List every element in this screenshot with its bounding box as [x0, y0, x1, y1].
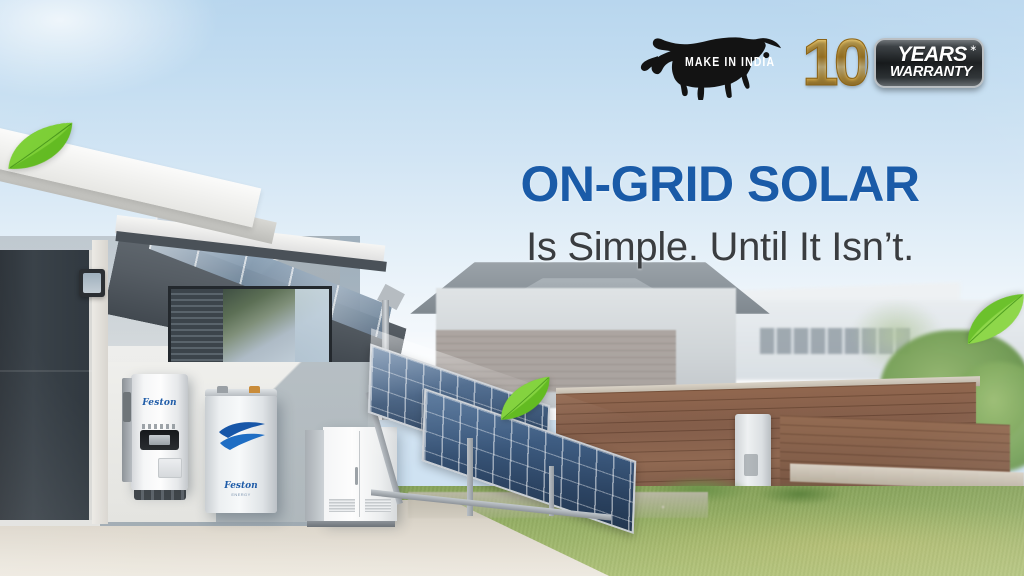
window-glass	[223, 289, 329, 363]
on-grid-solar-banner: Feston Feston ENERGY	[0, 0, 1024, 576]
inverter-side-bracket	[122, 378, 132, 482]
window-louvre	[171, 289, 223, 363]
cabinet-vent-left	[329, 499, 355, 512]
warranty-badge: 10 YEARS ∗ WARRANTY	[802, 29, 984, 99]
inverter-connector-base	[134, 490, 186, 500]
inverter-nameplate	[158, 458, 182, 478]
make-in-india-label: MAKE IN INDIA	[685, 55, 775, 70]
inverter-indicator-row	[142, 424, 177, 429]
warranty-word-label: WARRANTY	[880, 64, 982, 80]
cabinet-side-panel	[305, 430, 324, 521]
headline-block: ON-GRID SOLAR Is Simple. Until It Isn’t.	[470, 156, 970, 270]
house-window	[168, 286, 332, 366]
warranty-plate: YEARS ∗ WARRANTY	[874, 38, 984, 88]
battery-connector-positive	[249, 386, 260, 393]
battery-top-cover	[205, 389, 277, 396]
battery-connector-negative	[217, 386, 228, 393]
cabinet-handle	[355, 467, 358, 485]
inverter-display	[140, 430, 179, 450]
feston-inverter: Feston	[131, 374, 188, 491]
battery-brand-sublabel: ENERGY	[205, 492, 277, 497]
page-subtitle: Is Simple. Until It Isn’t.	[470, 224, 970, 270]
warranty-number: 10	[802, 31, 865, 93]
sky-haze	[0, 0, 340, 130]
feston-wave-logo-icon	[217, 419, 267, 453]
page-title: ON-GRID SOLAR	[470, 156, 970, 212]
feston-battery-cabinet: Feston ENERGY	[205, 395, 277, 513]
warranty-asterisk: ∗	[969, 43, 977, 54]
badge-row: MAKE IN INDIA 10 YEARS ∗ WARRANTY	[640, 26, 984, 102]
inverter-brand-label: Feston	[131, 398, 188, 408]
make-in-india-badge: MAKE IN INDIA	[640, 28, 788, 100]
battery-brand-label: Feston	[205, 481, 277, 491]
wall-lamp-icon	[79, 269, 105, 297]
cabinet-door-seam	[359, 431, 360, 517]
